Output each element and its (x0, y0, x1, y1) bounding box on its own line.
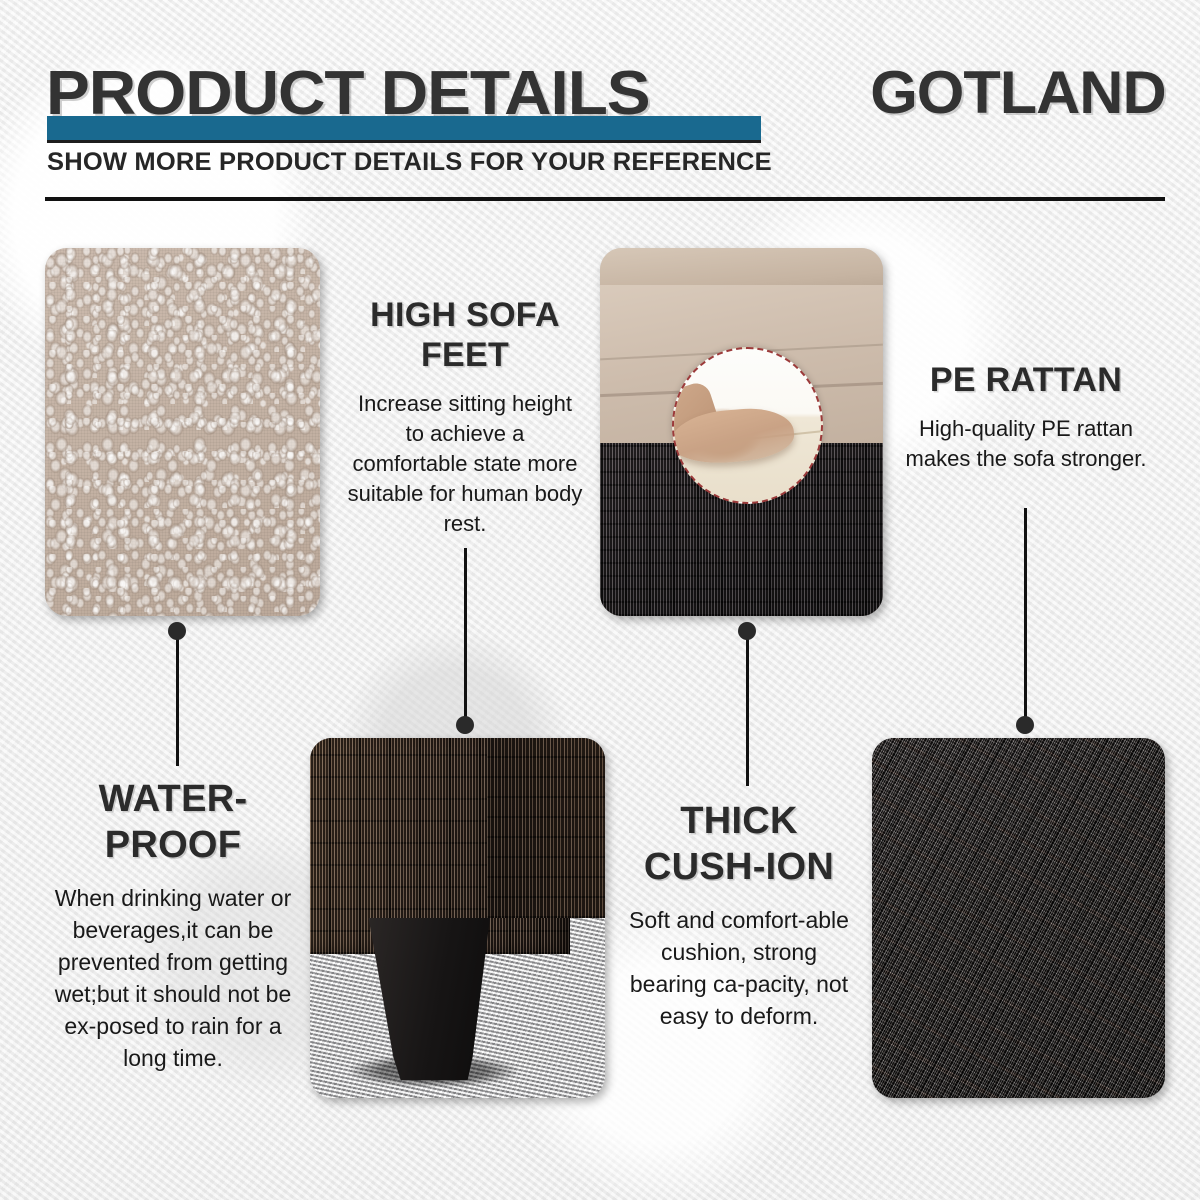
header-divider (45, 197, 1165, 201)
feature-body: High-quality PE rattan makes the sofa st… (900, 414, 1152, 474)
feature-waterproof: WATER-PROOF When drinking water or bever… (44, 776, 302, 1074)
feature-body: Soft and comfort-able cushion, strong be… (620, 904, 858, 1032)
connector-line-thick-cushion (746, 631, 749, 786)
foam-press-inset (672, 347, 823, 504)
connector-line-pe-rattan (1024, 508, 1027, 720)
thick-cushion-photo (600, 248, 883, 616)
feature-title: THICK CUSH-ION (620, 798, 858, 890)
sofa-feet-photo (310, 738, 605, 1098)
connector-line-sofa-feet (464, 548, 467, 720)
feature-body: Increase sitting height to achieve a com… (346, 389, 584, 539)
page-title: PRODUCT DETAILS (46, 63, 650, 125)
connector-dot-sofa-feet (456, 716, 474, 734)
pe-rattan-photo (872, 738, 1165, 1098)
feature-title: PE RATTAN (900, 360, 1152, 400)
feature-title: WATER-PROOF (44, 776, 302, 868)
connector-line-waterproof (176, 631, 179, 766)
page-subtitle: SHOW MORE PRODUCT DETAILS FOR YOUR REFER… (47, 147, 772, 177)
waterproof-fabric-photo (45, 248, 320, 616)
feature-pe-rattan: PE RATTAN High-quality PE rattan makes t… (900, 360, 1152, 474)
rattan-corner-side (487, 738, 605, 918)
connector-dot-thick-cushion (738, 622, 756, 640)
brand-logo: GOTLAND (871, 62, 1166, 124)
feature-high-sofa-feet: HIGH SOFA FEET Increase sitting height t… (346, 295, 584, 539)
feature-title: HIGH SOFA FEET (346, 295, 584, 375)
feature-body: When drinking water or beverages,it can … (44, 882, 302, 1074)
connector-dot-waterproof (168, 622, 186, 640)
infographic-page: PRODUCT DETAILS SHOW MORE PRODUCT DETAIL… (0, 0, 1200, 1200)
feature-thick-cushion: THICK CUSH-ION Soft and comfort-able cus… (620, 798, 858, 1032)
connector-dot-pe-rattan (1016, 716, 1034, 734)
